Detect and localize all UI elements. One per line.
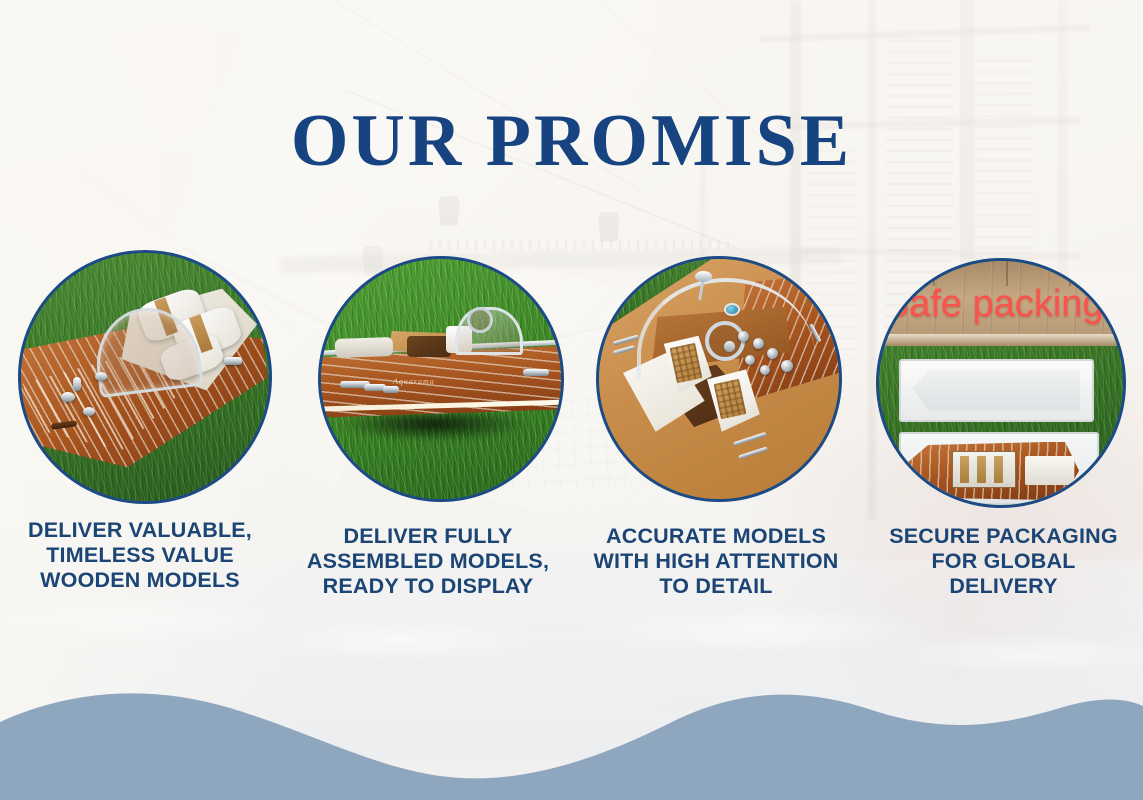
chrome-fitting: [73, 377, 81, 391]
box-edge: [879, 334, 1123, 346]
chrome-fitting: [61, 392, 75, 402]
steering-wheel-hub: [724, 341, 735, 352]
boat-cockpit: [407, 336, 450, 358]
promise-caption-1: DELIVER VALUABLE, TIMELESS VALUE WOODEN …: [0, 518, 280, 593]
decorative-wave-shape: [0, 680, 1143, 800]
promise-badge-4-image: Safe packing: [876, 258, 1126, 508]
dashboard-gauge: [753, 338, 764, 349]
page-title: OUR PROMISE: [0, 104, 1143, 178]
our-promise-banner: OUR PROMISE: [0, 0, 1143, 800]
boat-cockpit-detail-photo: [599, 259, 839, 499]
chrome-fitting: [224, 357, 242, 365]
packed-boat-seat: [960, 456, 970, 483]
wooden-boat-bow-photo: [21, 253, 269, 501]
packed-boat-aft-deck: [1025, 456, 1074, 485]
chrome-fitting: [83, 407, 95, 416]
boat-steering-wheel: [705, 321, 745, 361]
boat-rear-view-mirror: [695, 271, 712, 282]
chrome-fitting: [523, 369, 549, 376]
promise-caption-4: SECURE PACKAGING FOR GLOBAL DELIVERY: [864, 524, 1143, 599]
safe-packing-overlay-text: Safe packing: [884, 283, 1126, 326]
wooden-boat-side-profile-photo: Aquarama: [321, 259, 561, 499]
packaging-photo: Safe packing: [879, 261, 1123, 505]
chrome-fitting: [383, 386, 399, 393]
promise-badge-3-image: [596, 256, 842, 502]
packed-boat-seat: [977, 456, 987, 483]
promise-badge-1-image: [18, 250, 272, 504]
dashboard-gauge: [767, 348, 778, 359]
promise-badges-row: Aquarama: [0, 250, 1143, 508]
boat-bow-cover: [335, 337, 393, 358]
dashboard-indicator-light: [726, 305, 738, 314]
dashboard-gauge: [760, 365, 770, 375]
promise-captions-row: DELIVER VALUABLE, TIMELESS VALUE WOODEN …: [0, 512, 1143, 608]
packed-boat-seat: [994, 456, 1004, 483]
foam-boat-cavity: [912, 370, 1080, 410]
foam-packaging-tray: [899, 359, 1094, 422]
promise-badge-2-image: Aquarama: [318, 256, 564, 502]
boat-shadow: [340, 413, 527, 442]
boat-name-plate: Aquarama: [393, 377, 435, 386]
promise-caption-3: ACCURATE MODELS WITH HIGH ATTENTION TO D…: [568, 524, 864, 599]
promise-caption-2: DELIVER FULLY ASSEMBLED MODELS, READY TO…: [288, 524, 568, 599]
